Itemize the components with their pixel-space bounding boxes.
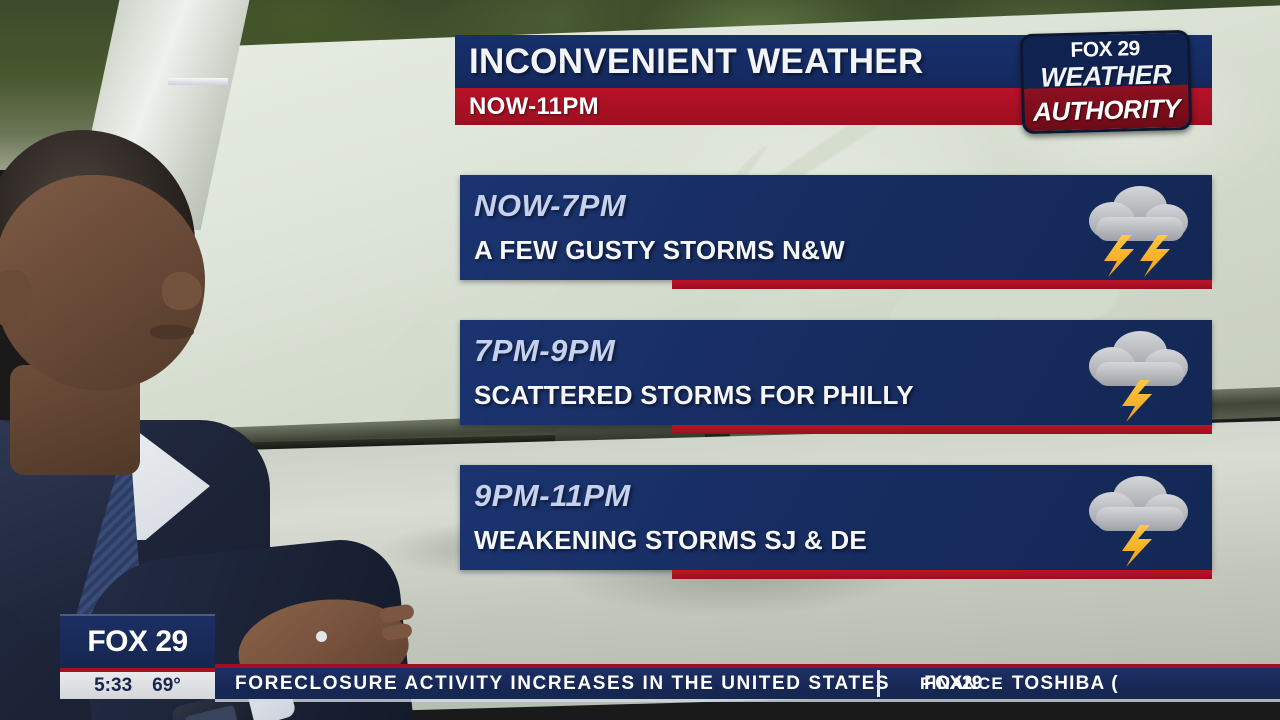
time-range-label: NOW-11PM (469, 93, 599, 121)
row-accent-bar (672, 280, 1212, 289)
logo-weather-label: WEATHER (1023, 59, 1188, 94)
thunderstorm-icon (1082, 471, 1192, 567)
temperature-label: 69° (152, 675, 181, 697)
logo-authority-label: AUTHORITY (1024, 93, 1189, 128)
bug-logo-block: FOX 29 (60, 614, 215, 668)
thunderstorm-icon (1082, 181, 1192, 277)
bug-info-strip: 5:33 69° (60, 672, 215, 699)
ticker-separator (877, 670, 880, 697)
mouth (150, 325, 194, 339)
forecast-row: NOW-7PM A FEW GUSTY STORMS N&W (460, 175, 1212, 280)
forecast-description: SCATTERED STORMS FOR PHILLY (474, 380, 914, 411)
forecast-time-label: NOW-7PM (474, 188, 626, 224)
forecast-time-label: 9PM-11PM (474, 478, 631, 514)
forecast-time-label: 7PM-9PM (474, 333, 615, 369)
forecast-panel: 9PM-11PM WEAKENING STORMS SJ & DE (460, 465, 1212, 570)
ticker-bottom-accent (215, 699, 1280, 702)
logo-stick (168, 78, 228, 85)
forecast-description: WEAKENING STORMS SJ & DE (474, 525, 867, 556)
logo-plate: FOX 29 WEATHER AUTHORITY (1020, 30, 1193, 134)
forecast-panel: 7PM-9PM SCATTERED STORMS FOR PHILLY (460, 320, 1212, 425)
clock-label: 5:33 (94, 675, 132, 697)
ticker-headline: FORECLOSURE ACTIVITY INCREASES IN THE UN… (215, 673, 890, 695)
page-title: INCONVENIENT WEATHER (469, 42, 924, 82)
row-accent-bar (672, 570, 1212, 579)
forecast-row: 7PM-9PM SCATTERED STORMS FOR PHILLY (460, 320, 1212, 425)
forecast-panel: NOW-7PM A FEW GUSTY STORMS N&W (460, 175, 1212, 280)
news-ticker: FORECLOSURE ACTIVITY INCREASES IN THE UN… (215, 664, 1280, 702)
nose (162, 272, 202, 310)
weather-authority-logo: FOX 29 WEATHER AUTHORITY (1020, 30, 1193, 134)
bug-network-label: FOX 29 (87, 625, 187, 659)
thunderstorm-icon (1082, 326, 1192, 422)
ticker-bar[interactable]: FORECLOSURE ACTIVITY INCREASES IN THE UN… (215, 668, 1280, 699)
forecast-row: 9PM-11PM WEAKENING STORMS SJ & DE (460, 465, 1212, 570)
ticker-category-label: FINANCE (920, 668, 1004, 699)
row-accent-bar (672, 425, 1212, 434)
station-bug: FOX 29 5:33 69° (60, 614, 215, 699)
forecast-description: A FEW GUSTY STORMS N&W (474, 235, 845, 266)
broadcast-screen: INCONVENIENT WEATHER NOW-11PM FOX 29 WEA… (0, 0, 1280, 720)
